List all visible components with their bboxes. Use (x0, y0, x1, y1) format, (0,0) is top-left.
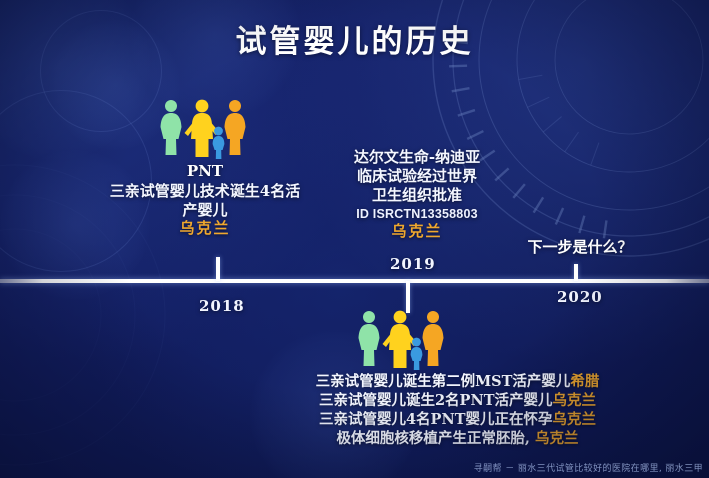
man-yellow-icon (185, 100, 220, 157)
watermark-text: 寻嗣帮 － 丽水三代试管比较好的医院在哪里, 丽水三甲 (474, 461, 703, 474)
timeline-axis (0, 279, 709, 283)
woman-orange-icon (225, 100, 246, 155)
timeline-year-2018: 2018 (199, 297, 245, 315)
event-line: 卫生组织批准 (322, 186, 512, 205)
event-line-text: 三亲试管婴儿诞生第二例MST活产婴儿 (316, 373, 571, 390)
event-line: 临床试验经过世界 (322, 167, 512, 186)
event-line-text: 三亲试管婴儿4名PNT婴儿正在怀孕 (319, 411, 553, 428)
event-line: 三亲试管婴儿4名PNT婴儿正在怀孕乌克兰 (280, 410, 635, 429)
event-line: 达尔文生命-纳迪亚 (322, 148, 512, 167)
event-line: 极体细胞核移植产生正常胚胎, 乌克兰 (280, 429, 635, 448)
child-blue-icon (213, 127, 225, 159)
event-line: 产婴儿 (90, 201, 320, 219)
event-country: 乌克兰 (553, 411, 597, 428)
next-step-question: 下一步是什么？ (505, 238, 655, 256)
timeline-tick-2019 (406, 281, 410, 313)
event-country: 乌克兰 (391, 222, 442, 240)
page-title: 试管婴儿的历史 (0, 16, 709, 61)
timeline-tick-2018 (216, 257, 220, 281)
next-step-question-block: 下一步是什么？ (505, 238, 655, 256)
event-block-2019-bottom: 三亲试管婴儿诞生第二例MST活产婴儿希腊 三亲试管婴儿诞生2名PNT活产婴儿乌克… (280, 372, 635, 449)
timeline-year-2020: 2020 (557, 288, 603, 306)
family-people-icon (157, 99, 253, 161)
child-blue-icon (411, 338, 423, 370)
event-line: 三亲试管婴儿技术诞生4名活 (90, 182, 320, 200)
event-country: 乌克兰 (553, 392, 597, 409)
man-yellow-icon (383, 311, 418, 368)
trial-id: ID ISRCTN13358803 (322, 207, 512, 222)
woman-orange-icon (423, 311, 444, 366)
event-line: 三亲试管婴儿诞生2名PNT活产婴儿乌克兰 (280, 391, 635, 410)
timeline-year-2019: 2019 (390, 255, 436, 273)
event-heading-pnt: PNT (90, 162, 320, 180)
event-country: 乌克兰 (535, 430, 579, 447)
timeline-tick-2020 (574, 264, 578, 281)
event-block-2018: PNT 三亲试管婴儿技术诞生4名活 产婴儿 乌克兰 (90, 162, 320, 238)
family-people-icon (355, 310, 451, 372)
event-line-text: 三亲试管婴儿诞生2名PNT活产婴儿 (319, 392, 553, 409)
woman-green-icon (161, 100, 182, 155)
event-country: 希腊 (570, 373, 599, 390)
event-line-text: 极体细胞核移植产生正常胚胎, (336, 430, 535, 447)
woman-green-icon (359, 311, 380, 366)
event-line: 三亲试管婴儿诞生第二例MST活产婴儿希腊 (280, 372, 635, 391)
slide-canvas: 试管婴儿的历史 2018 2019 2020 (0, 0, 709, 478)
event-country: 乌克兰 (179, 219, 230, 237)
event-block-2019-top: 达尔文生命-纳迪亚 临床试验经过世界 卫生组织批准 ID ISRCTN13358… (322, 148, 512, 241)
